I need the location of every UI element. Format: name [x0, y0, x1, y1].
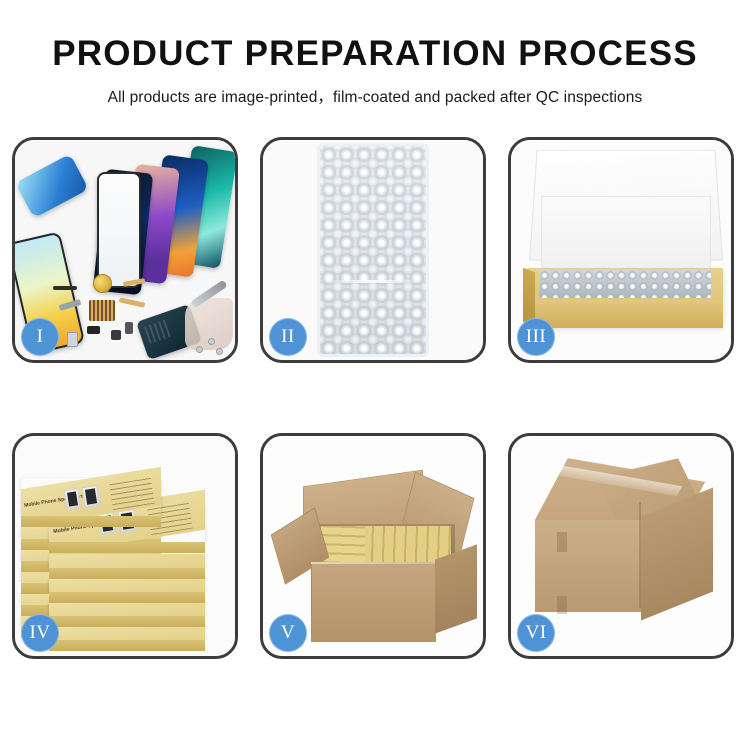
connector-part-2 [111, 330, 121, 340]
product-preparation-infographic: PRODUCT PREPARATION PROCESS All products… [0, 0, 750, 750]
step-badge-6: VI [517, 614, 555, 652]
stacked-box-b0-printed: Mobile Phone Spare Parts [21, 478, 161, 516]
sealed-carton-seam-top [557, 532, 567, 552]
process-step-3: III [508, 137, 734, 363]
copper-coil-part [93, 274, 112, 293]
sim-tray-part [67, 332, 78, 347]
step-badge-5: V [269, 614, 307, 652]
stacked-box-f2 [49, 554, 205, 568]
process-step-1: I [12, 137, 238, 363]
process-step-6: VI [508, 433, 734, 659]
carton-front-face [311, 564, 436, 642]
box-lid-inner [541, 196, 711, 270]
kraft-box-front [527, 300, 723, 328]
step-badge-2: II [269, 318, 307, 356]
bubble-wrap-sheet [320, 146, 426, 354]
stacked-box-f5 [49, 626, 205, 640]
flex-cable-b [119, 297, 145, 307]
sealed-carton-edge [639, 502, 641, 608]
box-phone-image-4 [81, 485, 100, 508]
phone-blue-flat [15, 154, 89, 218]
sealed-carton-seam-bottom [557, 596, 567, 614]
connector-part-3 [125, 322, 133, 334]
process-step-2: II [260, 137, 486, 363]
process-step-grid: I II III [12, 137, 738, 659]
screw-2 [196, 346, 203, 353]
stacked-box-f4 [49, 602, 205, 616]
process-step-5: V [260, 433, 486, 659]
page-title: PRODUCT PREPARATION PROCESS [0, 36, 750, 73]
bubble-wrapped-contents [539, 270, 711, 298]
box-phone-image-3 [64, 488, 82, 510]
chip-board-part [89, 300, 115, 321]
sealed-carton-front-face [535, 520, 641, 612]
header: PRODUCT PREPARATION PROCESS All products… [0, 0, 750, 107]
carton-right-face [435, 544, 477, 633]
screen-protector-glass [97, 172, 141, 288]
screw-1 [208, 338, 215, 345]
process-step-4: Mobile Phone Spare Parts Mobile Phone Sp… [12, 433, 238, 659]
screw-3 [216, 348, 223, 355]
bubble-wrap-crease [321, 280, 425, 283]
stacked-box-f3 [49, 578, 205, 592]
page-subtitle: All products are image-printed，film-coat… [0, 85, 750, 107]
step-badge-4: IV [21, 614, 59, 652]
earpiece-mesh-part [53, 286, 77, 290]
step-badge-3: III [517, 318, 555, 356]
step-badge-1: I [21, 318, 59, 356]
connector-part-1 [87, 326, 100, 334]
